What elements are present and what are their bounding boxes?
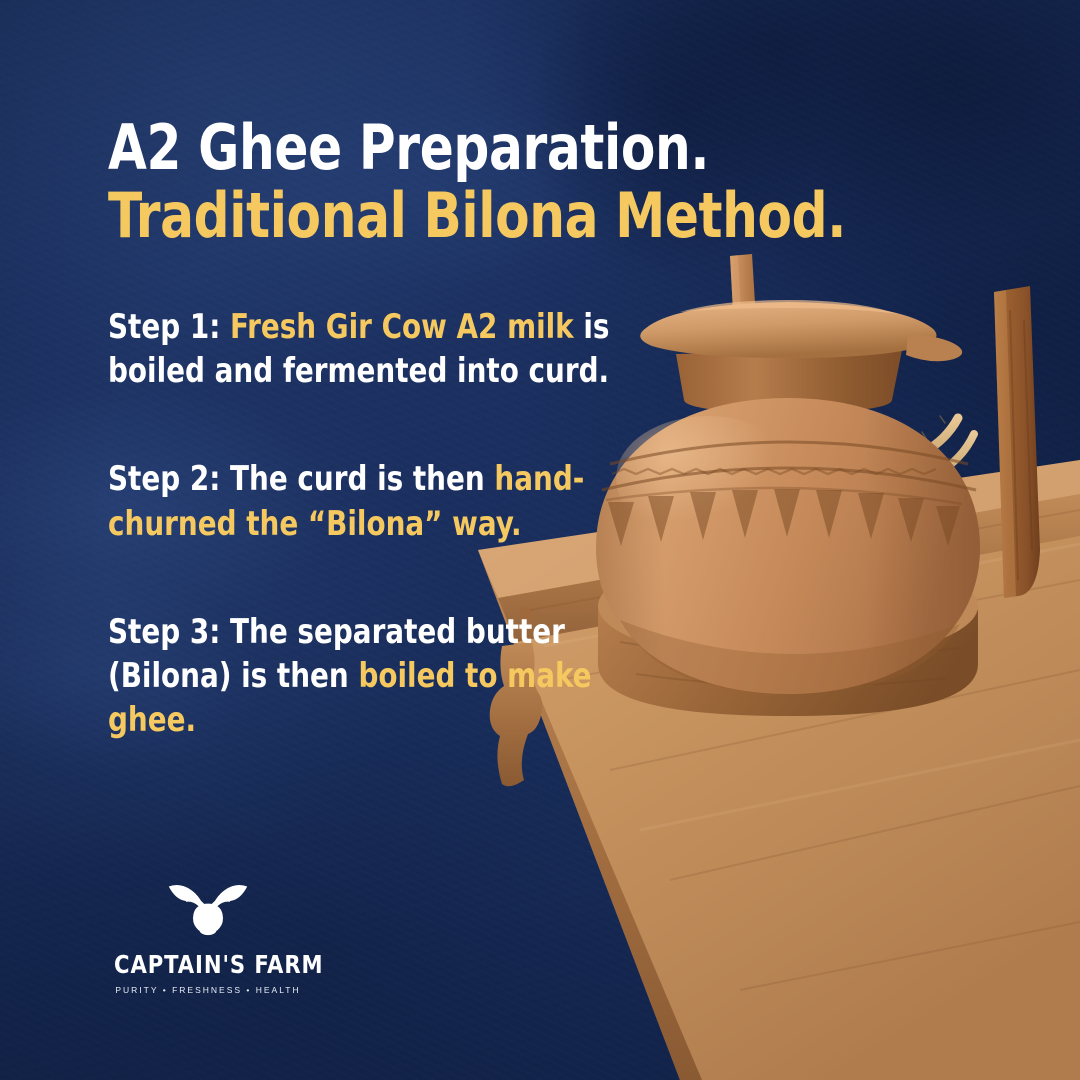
brand-name: CAPTAIN'S FARM [114,950,302,979]
step-1-seg-1: Fresh Gir Cow A2 milk [230,307,574,347]
steps-list: Step 1: Fresh Gir Cow A2 milk is boiled … [108,305,708,742]
poster-canvas: A2 Ghee Preparation. Traditional Bilona … [0,0,1080,1080]
brand-tagline: PURITY • FRESHNESS • HEALTH [108,985,308,995]
bull-head-icon [165,878,251,936]
step-1: Step 1: Fresh Gir Cow A2 milk is boiled … [108,305,654,393]
step-3: Step 3: The separated butter (Bilona) is… [108,610,654,743]
step-2-seg-0: Step 2: The curd is then [108,459,494,499]
step-2: Step 2: The curd is then hand-churned th… [108,457,654,545]
headline-line-2: Traditional Bilona Method. [108,186,648,246]
headline-line-1: A2 Ghee Preparation. [108,118,648,178]
page-title: A2 Ghee Preparation. Traditional Bilona … [108,118,648,245]
brand-logo: CAPTAIN'S FARM PURITY • FRESHNESS • HEAL… [108,878,308,995]
step-1-seg-0: Step 1: [108,307,230,347]
text-content: A2 Ghee Preparation. Traditional Bilona … [108,118,708,742]
